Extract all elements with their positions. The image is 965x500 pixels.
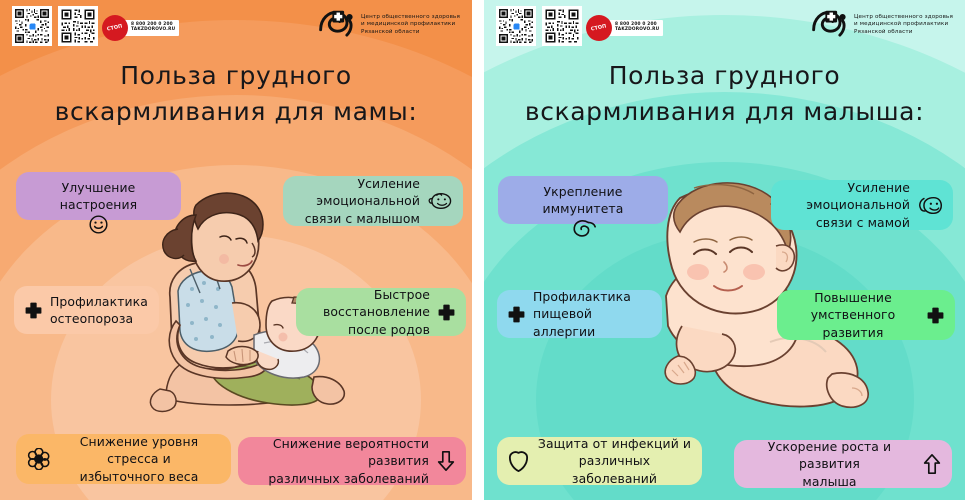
qr-code-vk[interactable] [12,6,52,46]
badge-label-line-2: избыточного веса [57,468,221,485]
badge-label-line-1: Профилактика [50,293,148,310]
badge-growth-acceleration[interactable]: Ускорение роста и развития малыша [734,440,952,488]
header-right: СТОП 8 800 200 0 200 TAKZDOROVO.RU [484,0,965,50]
health-center-logo-icon [317,8,355,42]
badge-label-line-1: Защита от инфекций и [537,435,692,452]
stop-circle-icon: СТОП [586,15,612,41]
badge-emotional-bond-mom[interactable]: Усиление эмоциональной связи с мамой [771,180,953,230]
smiley-face-icon [88,214,109,235]
medical-cross-icon [926,306,945,325]
badge-label-line-1: Снижение вероятности развития [248,435,429,469]
badge-emotional-bond-baby[interactable]: Усиление эмоциональной связи с малышом [283,176,463,226]
badge-text-block: Снижение вероятности развития различных … [248,435,429,486]
brand-block: Центр общественного здоровья и медицинск… [810,8,953,42]
baby-face-icon [427,191,453,211]
brand-line-3: Рязанской области [854,29,953,36]
badge-mental-development[interactable]: Повышение умственного развития [777,290,955,340]
badge-label-line-1: Повышение умственного [787,289,919,323]
badge-label-line-2: остеопороза [50,310,148,327]
stop-label: СТОП [107,24,123,32]
medical-cross-icon [437,303,456,322]
brand-text: Центр общественного здоровья и медицинск… [361,14,460,36]
panel-divider [472,0,484,500]
badge-label-line-1: Профилактика [533,288,652,305]
badge-label-line-2: после родов [306,321,430,338]
brand-block: Центр общественного здоровья и медицинск… [317,8,460,42]
title-line-2: вскармливания для мамы: [0,94,472,130]
brand-line-2: и медицинской профилактики [361,21,460,28]
badge-lower-stress-weight[interactable]: Снижение уровня стресса и избыточного ве… [16,434,231,484]
poster-title-mother: Польза грудного вскармливания для мамы: [0,58,472,131]
badge-text-block: Снижение уровня стресса и избыточного ве… [57,433,221,484]
stop-label: СТОП [591,24,607,32]
badge-immunity-boost[interactable]: Укрепление иммунитета [498,176,668,224]
panel-baby: СТОП 8 800 200 0 200 TAKZDOROVO.RU [484,0,965,500]
badge-text-block: Быстрое восстановление после родов [306,286,430,337]
poster-title-baby: Польза грудного вскармливания для малыша… [484,58,965,131]
hotline-plate: 8 800 200 0 200 TAKZDOROVO.RU [606,20,663,36]
badge-label: Улучшение настроения [26,179,171,213]
badge-text-block: Профилактика пищевой аллергии [533,288,652,339]
hotline-badge[interactable]: СТОП 8 800 200 0 200 TAKZDOROVO.RU [586,15,663,41]
badge-fast-recovery[interactable]: Быстрое восстановление после родов [296,288,466,336]
title-line-2: вскармливания для малыша: [484,94,965,130]
badge-text-block: Усиление эмоциональной связи с малышом [293,175,420,226]
shield-icon [507,450,530,473]
title-line-1: Польза грудного [484,58,965,94]
badge-label-line-1: Быстрое восстановление [306,286,430,320]
arrow-down-icon [436,450,456,472]
hotline-badge[interactable]: СТОП 8 800 200 0 200 TAKZDOROVO.RU [102,15,179,41]
qr-code-site[interactable] [542,6,582,46]
fat-cells-icon [26,448,50,470]
badge-label-line-2: различных заболеваний [248,470,429,487]
badge-label-line-1: Ускорение роста и развития [744,438,915,472]
badge-label-line-2: пищевой аллергии [533,305,652,339]
hotline-site: TAKZDOROVO.RU [615,28,659,33]
qr-code-vk[interactable] [496,6,536,46]
badge-label-line-2: связи с малышом [293,210,420,227]
title-line-1: Польза грудного [0,58,472,94]
badge-lower-disease-risk[interactable]: Снижение вероятности развития различных … [238,437,466,485]
medical-cross-icon [507,305,526,324]
badge-text-block: Повышение умственного развития [787,289,919,340]
mother-face-icon [917,195,943,216]
header-left: СТОП 8 800 200 0 200 TAKZDOROVO.RU [0,0,472,50]
badge-label-line-1: Усиление эмоциональной [781,179,910,213]
arrow-up-icon [922,453,942,475]
badge-improve-mood[interactable]: Улучшение настроения [16,172,181,220]
badge-infection-protection[interactable]: Защита от инфекций и различных заболеван… [497,437,702,485]
hotline-site: TAKZDOROVO.RU [131,28,175,33]
badge-text-block: Защита от инфекций и различных заболеван… [537,435,692,486]
infographic-poster: СТОП 8 800 200 0 200 TAKZDOROVO.RU [0,0,965,500]
badge-label-line-1: Усиление эмоциональной [293,175,420,209]
badge-food-allergy-prevention[interactable]: Профилактика пищевой аллергии [497,290,662,338]
stop-circle-icon: СТОП [102,15,128,41]
brand-text: Центр общественного здоровья и медицинск… [854,14,953,36]
badge-text-block: Усиление эмоциональной связи с мамой [781,179,910,230]
badge-label-line-2: различных заболеваний [537,452,692,486]
badge-osteoporosis-prevention[interactable]: Профилактика остеопороза [14,286,159,334]
immunity-swirl-icon [570,218,596,239]
badge-label-line-2: развития [787,324,919,341]
badge-label: Укрепление иммунитета [508,183,658,217]
medical-cross-icon [24,301,43,320]
badge-text-block: Профилактика остеопороза [50,293,148,327]
qr-code-site[interactable] [58,6,98,46]
brand-line-3: Рязанской области [361,29,460,36]
badge-label-line-1: Снижение уровня стресса и [57,433,221,467]
brand-line-2: и медицинской профилактики [854,21,953,28]
badge-label-line-2: связи с мамой [781,214,910,231]
panel-mother: СТОП 8 800 200 0 200 TAKZDOROVO.RU [0,0,472,500]
hotline-plate: 8 800 200 0 200 TAKZDOROVO.RU [122,20,179,36]
badge-label-line-2: малыша [744,473,915,490]
badge-text-block: Ускорение роста и развития малыша [744,438,915,489]
health-center-logo-icon [810,8,848,42]
